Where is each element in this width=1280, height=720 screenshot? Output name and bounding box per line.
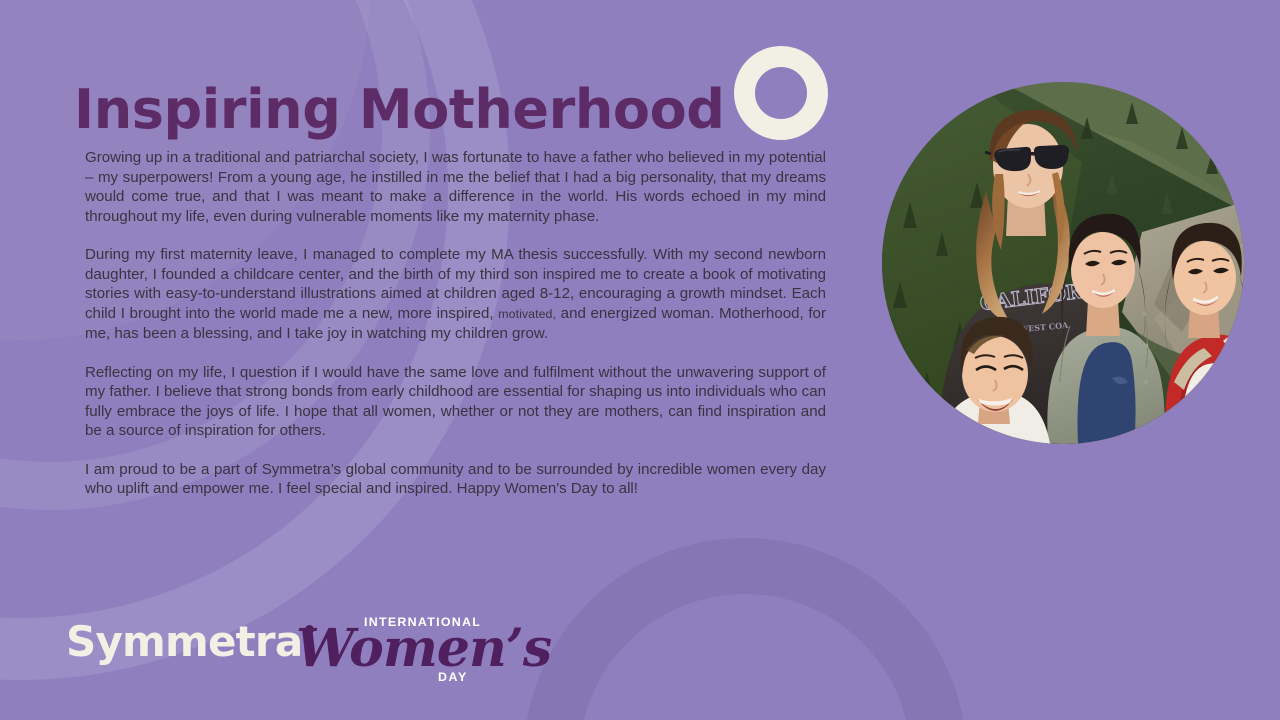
paragraph-4: I am proud to be a part of Symmetra’s gl… bbox=[85, 460, 826, 499]
page-title: Inspiring Motherhood bbox=[74, 78, 725, 141]
paragraph-2-small-word: motivated, bbox=[498, 307, 556, 321]
paragraph-1: Growing up in a traditional and patriarc… bbox=[85, 148, 826, 226]
family-photo: CALIFOR WEST COA bbox=[882, 82, 1244, 444]
international-womens-day-logo: INTERNATIONAL Women’s DAY bbox=[296, 612, 502, 688]
decorative-dark-ring-bottom bbox=[523, 538, 967, 720]
article-body: Growing up in a traditional and patriarc… bbox=[85, 148, 826, 499]
symmetra-wordmark: Symmetra bbox=[66, 618, 302, 666]
svg-text:Par: Par bbox=[1210, 381, 1244, 407]
slide-canvas: Inspiring Motherhood Growing up in a tra… bbox=[0, 0, 1280, 720]
circle-outline-icon bbox=[734, 46, 828, 140]
iwd-day-label: DAY bbox=[438, 670, 468, 684]
symmetra-logo: Symmetra bbox=[66, 618, 314, 666]
paragraph-2: During my first maternity leave, I manag… bbox=[85, 245, 826, 344]
family-photo-illustration: CALIFOR WEST COA bbox=[882, 82, 1244, 444]
iwd-womens-label: Women’s bbox=[296, 620, 551, 678]
paragraph-3: Reflecting on my life, I question if I w… bbox=[85, 363, 826, 441]
